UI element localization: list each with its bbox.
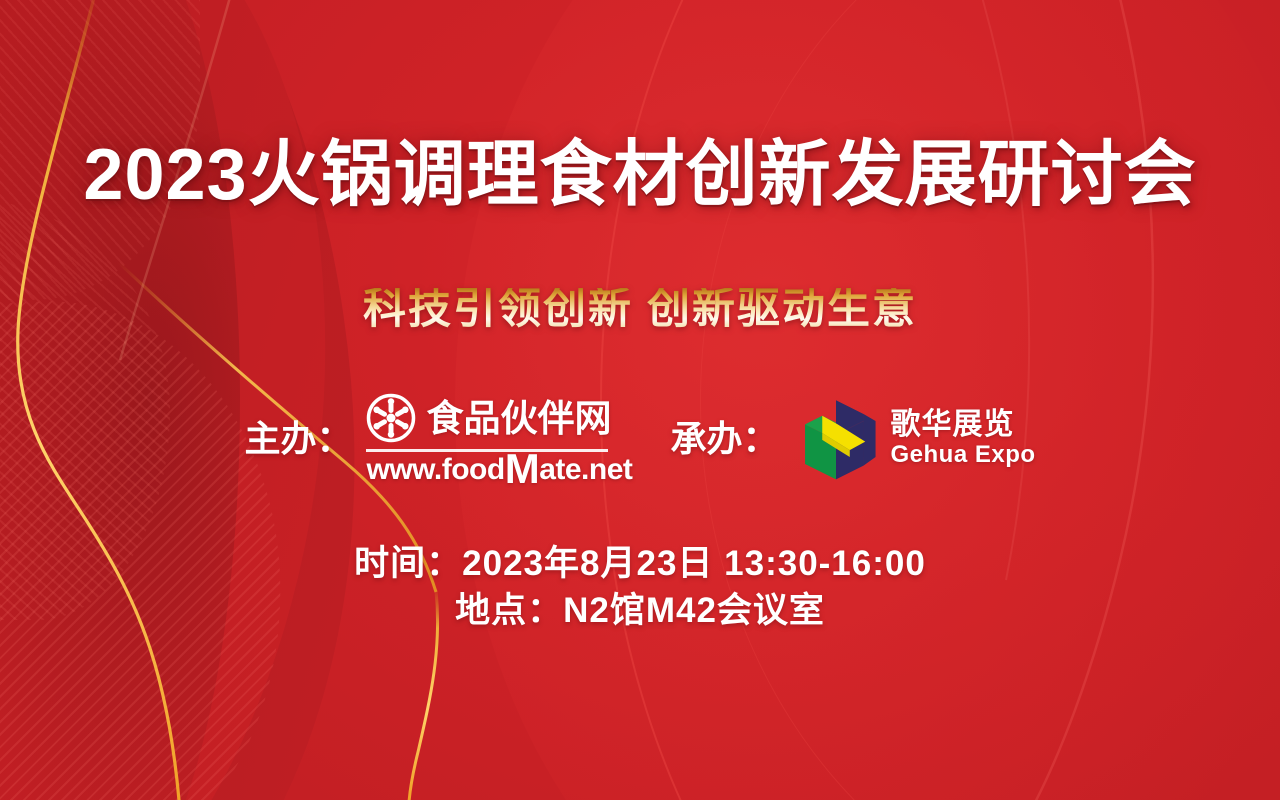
foodmate-logo[interactable]: 食品伙伴网 www.foodMate.net [366,392,608,485]
event-poster: 2023火锅调理食材创新发展研讨会 科技引领创新 创新驱动生意 主办： [0,0,1280,800]
page-title: 2023火锅调理食材创新发展研讨会 [0,139,1280,211]
foodmate-url-capital-m: M [505,445,540,492]
organizers-row: 主办： [0,392,1280,485]
foodmate-logo-top-row: 食品伙伴网 [366,392,608,444]
gehua-chinese-name: 歌华展览 [891,410,1036,440]
organizer-host: 主办： [244,392,608,485]
event-time: 时间：2023年8月23日 13:30-16:00 [0,540,1280,587]
gehua-text-block: 歌华展览 Gehua Expo [891,410,1036,467]
gehua-cube-mark-icon [793,395,879,483]
gehua-expo-logo[interactable]: 歌华展览 Gehua Expo [793,395,1036,483]
event-venue: 地点：N2馆M42会议室 [0,587,1280,634]
foodmate-url-prefix: www.food [366,453,504,486]
gehua-english-name: Gehua Expo [891,443,1036,467]
foodmate-url-suffix: ate.net [539,453,632,486]
organizer-coorganizer-label: 承办： [670,421,778,457]
foodmate-chinese-name: 食品伙伴网 [426,400,611,437]
page-subtitle: 科技引领创新 创新驱动生意 [0,288,1280,331]
organizer-host-label: 主办： [244,421,352,457]
organizer-coorganizer: 承办： 歌华展览 [670,395,1035,483]
event-meta-block: 时间：2023年8月23日 13:30-16:00 地点：N2馆M42会议室 [0,540,1280,635]
poster-content: 2023火锅调理食材创新发展研讨会 科技引领创新 创新驱动生意 主办： [0,0,1280,800]
foodmate-divider-rule [366,449,608,452]
foodmate-url: www.foodMate.net [366,454,608,485]
foodmate-flower-mark-icon [366,393,416,443]
